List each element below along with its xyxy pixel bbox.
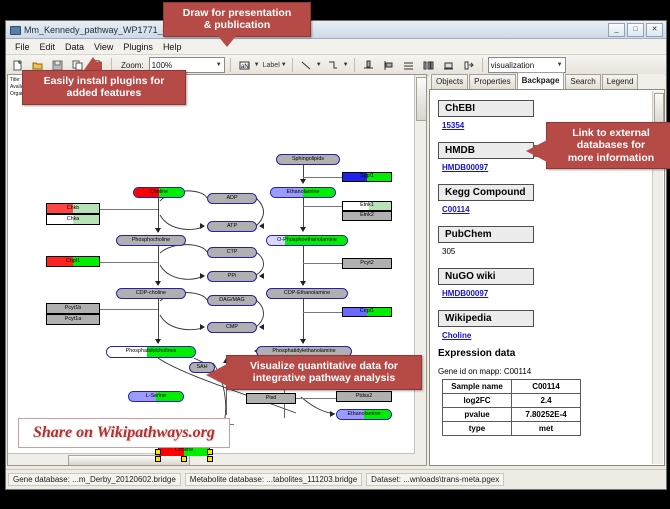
selection-handle[interactable] xyxy=(155,456,161,462)
tab-backpage[interactable]: Backpage xyxy=(517,72,565,89)
arrow-icon xyxy=(200,324,205,330)
node-label: Chpt1 xyxy=(66,259,80,264)
tab-legend[interactable]: Legend xyxy=(602,74,639,89)
node-label: ATP xyxy=(227,224,237,229)
node-label: Etnk1 xyxy=(360,203,374,208)
node-label: Phosphatidylcholines xyxy=(126,349,177,354)
node-label: Pcyt1a xyxy=(65,317,81,322)
chevron-down-icon: ▼ xyxy=(212,62,222,68)
app-icon xyxy=(9,24,20,35)
align-top-icon[interactable] xyxy=(360,57,377,74)
node-label: Choline xyxy=(175,448,193,453)
pathway-gene-etnk2[interactable]: Etnk2 xyxy=(342,211,392,221)
edge xyxy=(296,398,336,399)
connector-icon[interactable] xyxy=(325,57,342,74)
expression-data-heading: Expression data xyxy=(438,348,656,359)
pathway-node-ppi[interactable]: PPi xyxy=(207,271,257,282)
selection-handle[interactable] xyxy=(207,449,213,455)
menu-item-help[interactable]: Help xyxy=(158,41,187,53)
pathway-node-sphingolipids[interactable]: Sphingolipids xyxy=(276,154,340,165)
expression-table: Sample name C00114 log2FC 2.4 pvalue 7.8… xyxy=(442,379,581,436)
node-label: DAG/MAG xyxy=(219,298,244,303)
node-label: Cept1 xyxy=(360,309,374,314)
menu-item-edit[interactable]: Edit xyxy=(35,41,61,53)
db-header-chebi: ChEBI xyxy=(438,100,534,117)
table-row: pvalue 7.80252E-4 xyxy=(443,408,581,422)
expr-key: log2FC xyxy=(443,394,512,408)
node-label: O-Phosphoethanolamine xyxy=(277,238,337,243)
pathway-node-ethanolamine-right[interactable]: Ethanolamine xyxy=(336,409,392,420)
expr-key: pvalue xyxy=(443,408,512,422)
tab-search[interactable]: Search xyxy=(565,74,600,89)
callout-easily-install-plugins: Easily install plugins for added feature… xyxy=(22,70,186,105)
expr-value: C00114 xyxy=(512,380,581,394)
toolbar-separator-4 xyxy=(354,58,355,72)
menu-item-data[interactable]: Data xyxy=(60,41,89,53)
node-label: Pcyt1b xyxy=(65,306,81,311)
pathway-node-l-serine-left[interactable]: L-Serine xyxy=(128,391,184,402)
maximize-button[interactable]: □ xyxy=(627,23,644,37)
label-dropdown-caption: Label xyxy=(263,62,280,69)
pathway-gene-chka[interactable]: Chka xyxy=(46,214,100,225)
arrow-icon xyxy=(259,324,264,330)
arrow-icon xyxy=(330,411,335,417)
arrow-icon xyxy=(259,223,264,229)
tab-objects[interactable]: Objects xyxy=(431,74,468,89)
pathway-node-adp[interactable]: ADP xyxy=(207,193,257,204)
db-header-pubchem: PubChem xyxy=(438,226,534,243)
node-label: Ptdss2 xyxy=(356,394,372,399)
node-label: CTP xyxy=(227,250,238,255)
order-icon[interactable] xyxy=(460,57,477,74)
pathway-node-o-phosphoethanolamine[interactable]: O-Phosphoethanolamine xyxy=(266,235,348,246)
pathway-gene-etnk1[interactable]: Etnk1 xyxy=(342,201,392,211)
status-dataset: Dataset: ...wnloads\trans-meta.pgex xyxy=(366,473,504,486)
pathway-gene-chkb[interactable]: Chkb xyxy=(46,203,100,214)
node-label: Choline xyxy=(150,190,168,195)
node-label: Chkb xyxy=(67,206,80,211)
scrollbar-thumb[interactable] xyxy=(416,77,427,121)
datanode-dropdown[interactable]: aN ▼ xyxy=(236,57,260,74)
pathway-node-choline[interactable]: Choline xyxy=(133,187,185,198)
node-label: Sphingolipids xyxy=(292,157,324,162)
chevron-down-icon: ▼ xyxy=(553,62,563,68)
toolbar-separator-5 xyxy=(482,58,483,72)
node-label: PPi xyxy=(228,274,236,279)
db-header-wikipedia: Wikipedia xyxy=(438,310,534,327)
callout-draw-for-presentation: Draw for presentation & publication xyxy=(163,2,311,37)
pathway-gene-sgpl1[interactable]: Sgpl1 xyxy=(342,172,392,182)
connector-dropdown[interactable]: ▼ xyxy=(325,57,349,74)
pathway-canvas[interactable]: Title: Availa Organi xyxy=(7,74,427,466)
callout-tail-icon xyxy=(526,140,547,162)
callout-tail-icon xyxy=(206,364,227,386)
callout-tail-icon xyxy=(218,36,236,47)
callout-link-to-external-databases: Link to external databases for more info… xyxy=(546,122,670,169)
pathway-node-dag-mag[interactable]: DAG/MAG xyxy=(207,295,257,306)
canvas-vertical-scrollbar[interactable] xyxy=(414,75,426,465)
callout-visualize-quantitative-data: Visualize quantitative data for integrat… xyxy=(226,355,422,390)
pathway-node-cdp-ethanolamine[interactable]: CDP-Ethanolamine xyxy=(266,288,348,299)
align-left-icon[interactable] xyxy=(380,57,397,74)
pathway-gene-chpt1[interactable]: Chpt1 xyxy=(46,256,100,267)
node-label: L-Serine xyxy=(146,394,166,399)
status-metabolite-database: Metabolite database: ...tabolites_111203… xyxy=(185,473,362,486)
expr-value: 2.4 xyxy=(512,394,581,408)
table-row: type met xyxy=(443,422,581,436)
pathway-node-ethanolamine[interactable]: Ethanolamine xyxy=(270,187,336,198)
visualization-value: visualization xyxy=(491,61,535,70)
datanode-icon[interactable]: aN xyxy=(236,57,253,74)
pathway-drawing[interactable]: Title: Availa Organi xyxy=(8,75,426,465)
db-link-nugo-wiki[interactable]: HMDB00097 xyxy=(442,289,656,298)
toolbar-separator-2 xyxy=(230,58,231,72)
status-gene-database: Gene database: ...m_Derby_20120602.bridg… xyxy=(8,473,181,486)
pathway-node-ctp[interactable]: CTP xyxy=(207,247,257,258)
db-value-pubchem: 305 xyxy=(442,247,656,256)
node-label: Ethanolamine xyxy=(287,190,320,195)
minimize-button[interactable]: _ xyxy=(608,23,625,37)
scrollbar-thumb[interactable] xyxy=(654,93,664,125)
db-header-hmdb: HMDB xyxy=(438,142,534,159)
menu-item-plugins[interactable]: Plugins xyxy=(118,41,158,53)
toolbar-separator-3 xyxy=(292,58,293,72)
selection-handle[interactable] xyxy=(181,456,187,462)
menu-bar: File Edit Data View Plugins Help xyxy=(6,39,666,55)
node-label: Sgpl1 xyxy=(360,174,374,179)
node-label: Pcyt2 xyxy=(360,261,373,266)
scrollbar-thumb[interactable] xyxy=(68,455,190,466)
zoom-value: 100% xyxy=(152,61,172,70)
visualization-combobox[interactable]: visualization ▼ xyxy=(488,57,566,73)
line-dropdown[interactable]: ▼ xyxy=(298,57,322,74)
expr-value: met xyxy=(512,422,581,436)
node-label: Etnk2 xyxy=(360,213,374,218)
pathway-gene-pisd[interactable]: Pisd xyxy=(246,393,296,404)
window-controls: _ □ ✕ xyxy=(608,23,663,37)
panel-tab-strip: Objects Properties Backpage Search Legen… xyxy=(429,74,665,89)
db-link-kegg-compound[interactable]: C00114 xyxy=(442,205,656,214)
node-label: CDP-choline xyxy=(136,291,166,296)
db-link-wikipedia[interactable]: Choline xyxy=(442,331,656,340)
node-label: Chka xyxy=(67,217,80,222)
status-bar: Gene database: ...m_Derby_20120602.bridg… xyxy=(6,469,666,489)
title-bar: Mm_Kennedy_pathway_WP1771_45176.gpml _ □… xyxy=(6,21,666,39)
pathway-node-phosphocholine[interactable]: Phosphocholine xyxy=(116,235,186,246)
arrow-icon xyxy=(200,273,205,279)
menu-item-view[interactable]: View xyxy=(89,41,118,53)
tab-properties[interactable]: Properties xyxy=(469,74,515,89)
pathway-node-cmp[interactable]: CMP xyxy=(207,322,257,333)
expr-key: Sample name xyxy=(443,380,512,394)
chevron-down-icon: ▼ xyxy=(281,62,287,68)
node-label: CMP xyxy=(226,325,238,330)
line-icon[interactable] xyxy=(298,57,315,74)
node-label: ADP xyxy=(226,196,237,201)
pathway-gene-pcyt1b[interactable]: Pcyt1b xyxy=(46,303,100,314)
arrow-icon xyxy=(200,223,205,229)
callout-tail-icon xyxy=(84,57,102,70)
selection-handle[interactable] xyxy=(155,449,161,455)
pathway-gene-pcyt2[interactable]: Pcyt2 xyxy=(342,258,392,269)
expr-value: 7.80252E-4 xyxy=(512,408,581,422)
expr-key: type xyxy=(443,422,512,436)
node-label: Ethanolamine xyxy=(348,412,381,417)
pathway-gene-cept1[interactable]: Cept1 xyxy=(342,307,392,317)
pathway-node-cdp-choline[interactable]: CDP-choline xyxy=(116,288,186,299)
pathway-gene-pcyt1a[interactable]: Pcyt1a xyxy=(46,314,100,325)
node-label: Phosphocholine xyxy=(132,238,170,243)
chevron-down-icon: ▼ xyxy=(316,62,322,68)
arrow-icon xyxy=(259,273,264,279)
screenshot-root: Mm_Kennedy_pathway_WP1771_45176.gpml _ □… xyxy=(0,0,670,509)
node-label: Pisd xyxy=(266,396,277,401)
gene-id-line: Gene id on mapp: C00114 xyxy=(438,367,656,376)
zoom-label: Zoom: xyxy=(121,61,144,70)
node-label: Phosphatidylethanolamine xyxy=(272,349,335,354)
distribute-icon[interactable] xyxy=(420,57,437,74)
close-button[interactable]: ✕ xyxy=(646,23,663,37)
db-header-nugo-wiki: NuGO wiki xyxy=(438,268,534,285)
callout-share-on-wikipathways: Share on Wikipathways.org xyxy=(18,418,230,448)
chevron-down-icon: ▼ xyxy=(343,62,349,68)
table-row: Sample name C00114 xyxy=(443,380,581,394)
selection-handle[interactable] xyxy=(207,456,213,462)
chevron-down-icon: ▼ xyxy=(254,62,260,68)
svg-text:aN: aN xyxy=(241,64,249,70)
menu-item-file[interactable]: File xyxy=(10,41,35,53)
pathway-node-phosphatidylcholines[interactable]: Phosphatidylcholines xyxy=(106,346,196,358)
db-header-kegg-compound: Kegg Compound xyxy=(438,184,534,201)
stack-icon[interactable] xyxy=(400,57,417,74)
pathway-gene-ptdss2[interactable]: Ptdss2 xyxy=(336,391,392,402)
pathway-node-atp[interactable]: ATP xyxy=(207,221,257,232)
label-dropdown[interactable]: Label ▼ xyxy=(263,62,287,69)
table-row: log2FC 2.4 xyxy=(443,394,581,408)
group-icon[interactable] xyxy=(440,57,457,74)
node-label: CDP-Ethanolamine xyxy=(284,291,330,296)
